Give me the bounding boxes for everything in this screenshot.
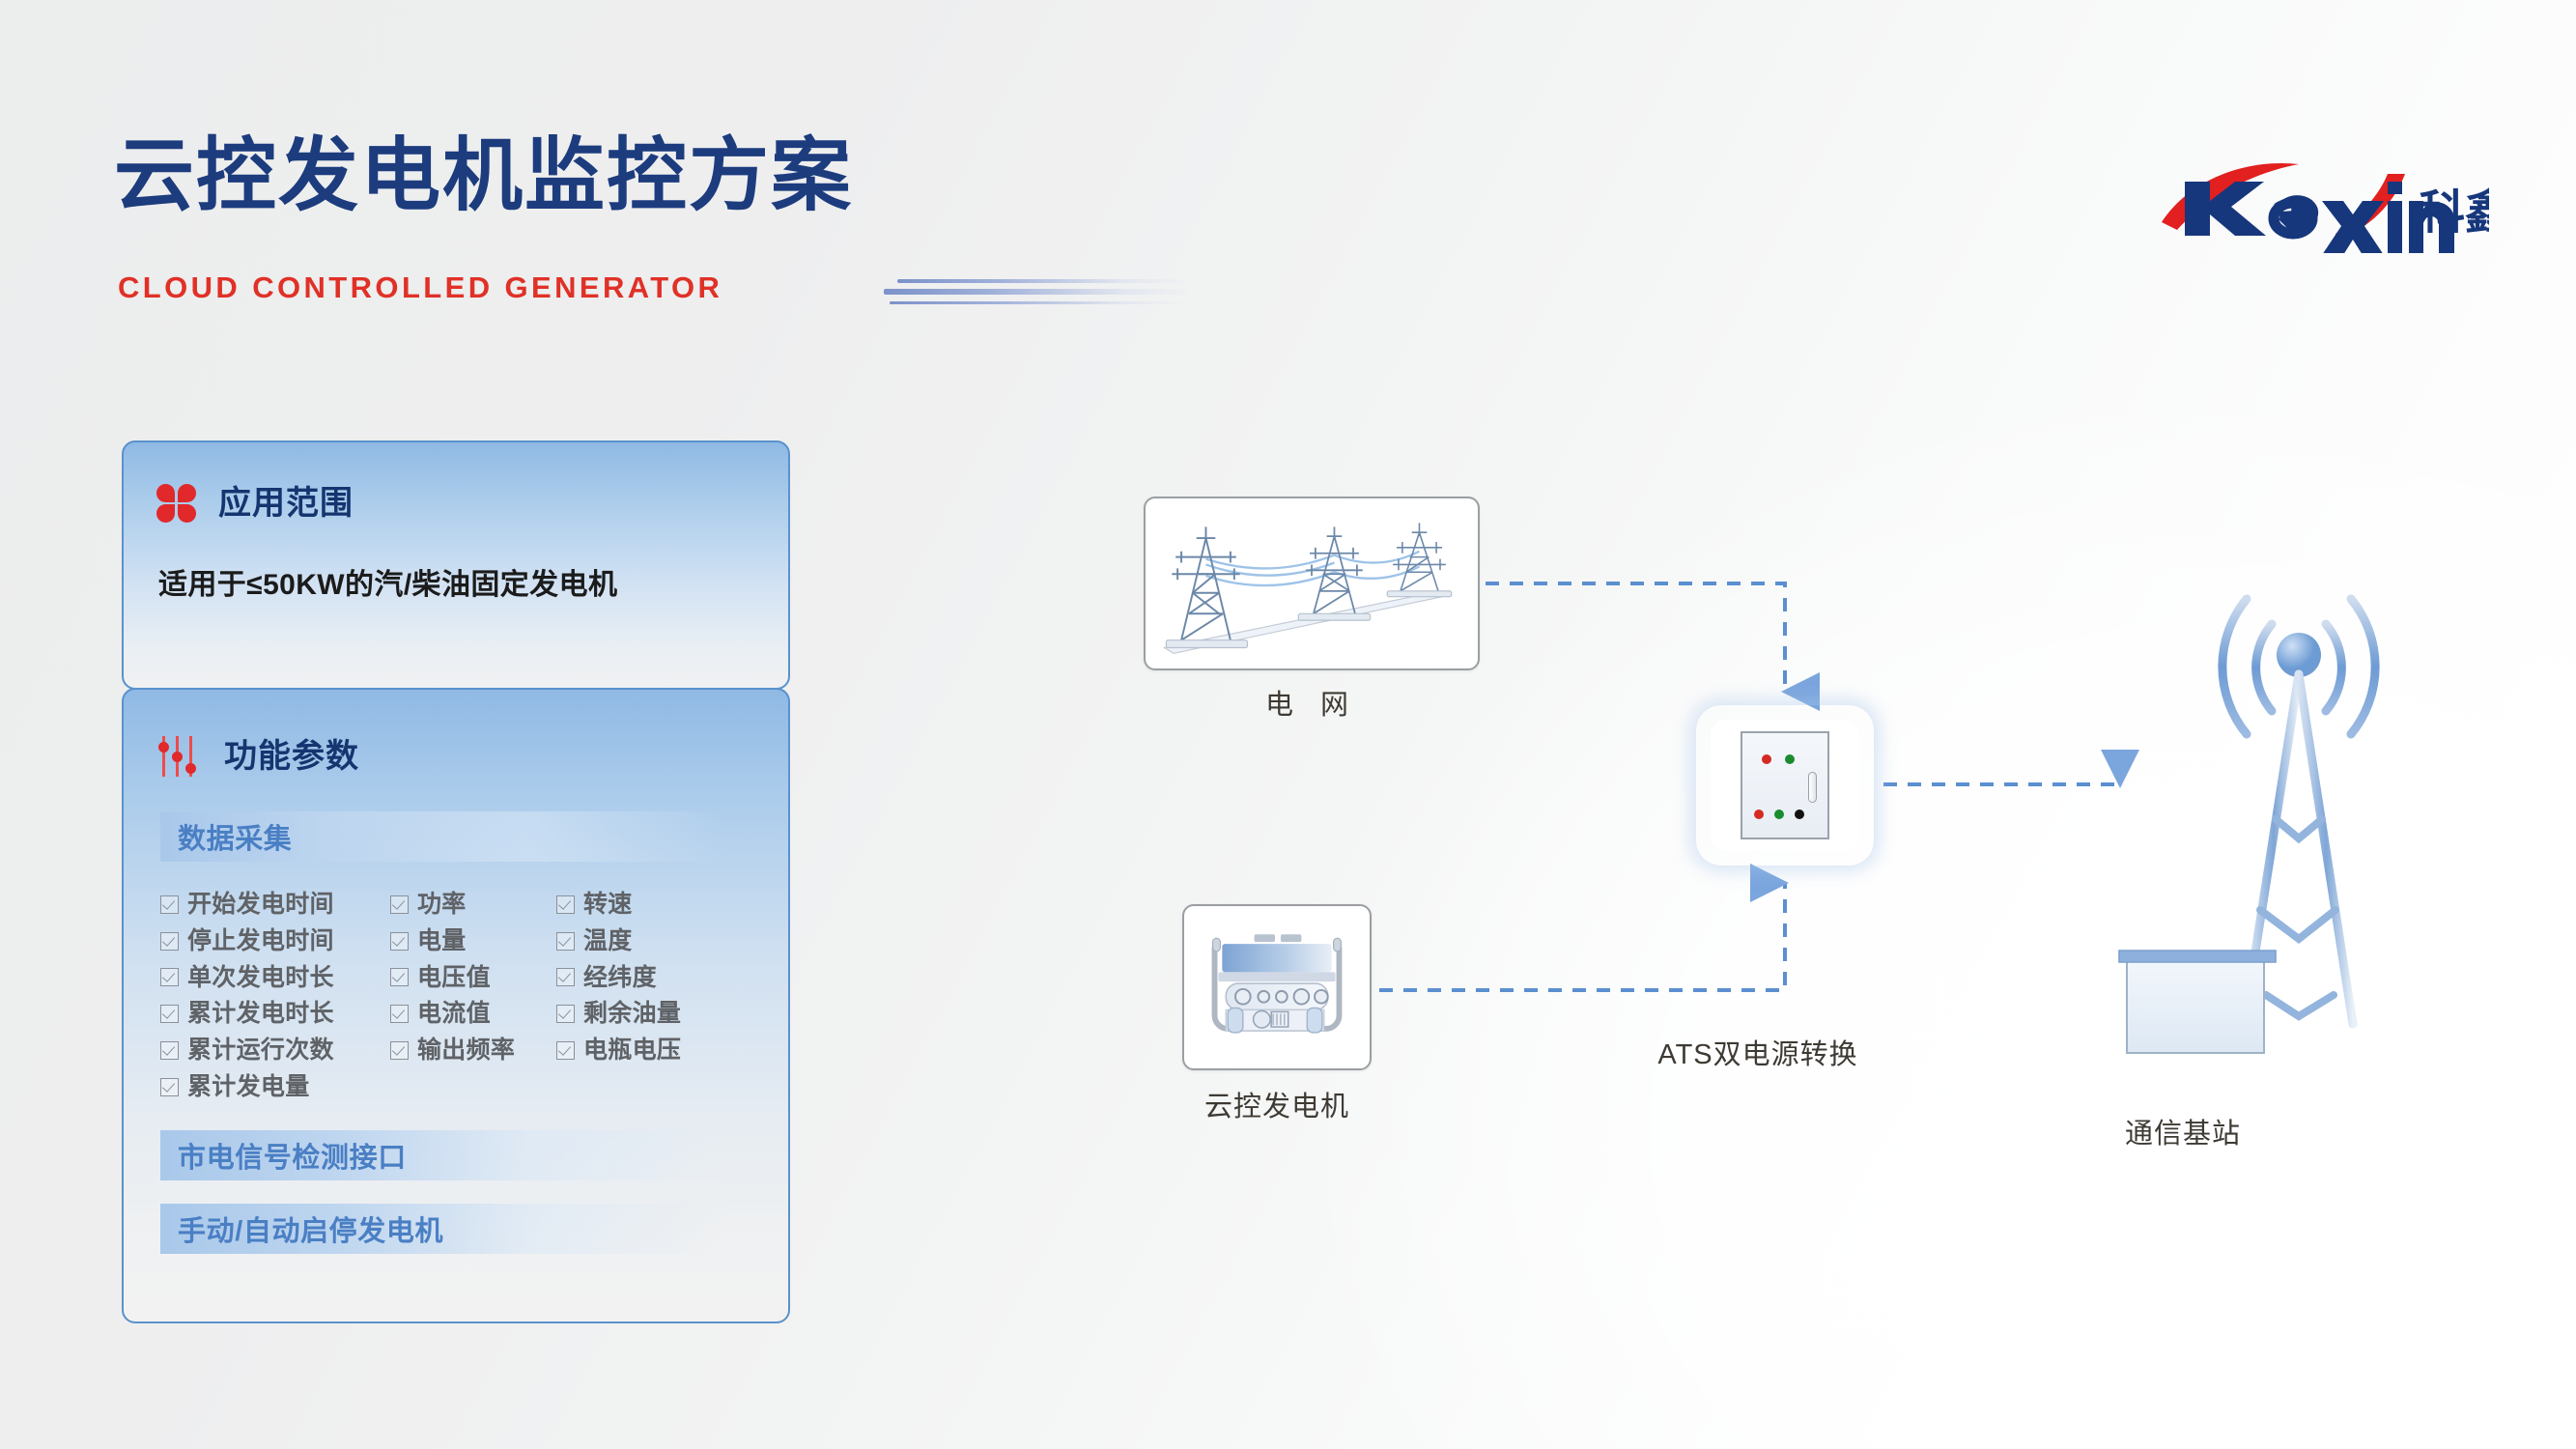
generator-icon bbox=[1184, 906, 1370, 1068]
checkbox-icon[interactable] bbox=[160, 1005, 179, 1023]
checklist-item[interactable]: 转速 bbox=[556, 891, 740, 919]
checklist-item[interactable]: 经纬度 bbox=[556, 964, 740, 992]
card-header: 应用范围 bbox=[124, 442, 788, 524]
checklist-item-label: 温度 bbox=[583, 927, 633, 955]
checklist-item[interactable]: 输出频率 bbox=[390, 1037, 556, 1065]
section-label: 手动/自动启停发电机 bbox=[178, 1208, 443, 1249]
logo-cn-text: 科鑫 bbox=[2419, 185, 2489, 240]
checkbox-icon[interactable] bbox=[160, 895, 179, 914]
led-red-bottom bbox=[1754, 810, 1764, 819]
checklist-item-label: 累计发电量 bbox=[187, 1073, 310, 1101]
checklist-item[interactable]: 电压值 bbox=[390, 964, 556, 992]
checkbox-icon[interactable] bbox=[390, 932, 409, 951]
checklist-item[interactable]: 累计发电量 bbox=[160, 1073, 390, 1101]
checklist-item-label: 输出频率 bbox=[417, 1037, 515, 1065]
checkbox-icon[interactable] bbox=[390, 895, 409, 914]
checklist-item-label: 累计运行次数 bbox=[187, 1037, 334, 1065]
node-label-power-grid: 电 网 bbox=[1144, 682, 1480, 723]
checklist-item-label: 停止发电时间 bbox=[187, 927, 334, 955]
subtitle-decor-lines bbox=[884, 276, 1193, 303]
checkbox-icon[interactable] bbox=[160, 1041, 179, 1060]
led-green-bottom bbox=[1774, 810, 1784, 819]
card-application-scope: 应用范围 适用于≤50KW的汽/柴油固定发电机 bbox=[122, 440, 790, 690]
section-header-mains-detection: 市电信号检测接口 bbox=[160, 1130, 725, 1180]
checklist-item[interactable]: 温度 bbox=[556, 927, 740, 955]
connector-grid-to-ats bbox=[1486, 583, 1785, 692]
brand-logo: 科鑫 bbox=[2156, 153, 2489, 253]
connector-generator-to-ats bbox=[1379, 883, 1785, 990]
checkbox-icon[interactable] bbox=[390, 1041, 409, 1060]
checkbox-icon[interactable] bbox=[556, 968, 575, 986]
checkbox-icon[interactable] bbox=[160, 1078, 179, 1096]
card-header: 功能参数 bbox=[124, 690, 788, 779]
checklist-item[interactable]: 累计运行次数 bbox=[160, 1037, 390, 1065]
led-black-bottom bbox=[1795, 810, 1804, 819]
page-title: 云控发电机监控方案 bbox=[114, 135, 853, 215]
checklist-item[interactable]: 电瓶电压 bbox=[556, 1037, 740, 1065]
section-label: 市电信号检测接口 bbox=[178, 1135, 407, 1176]
section-header-data-collection: 数据采集 bbox=[160, 811, 725, 862]
led-green-top bbox=[1785, 754, 1795, 764]
node-label-cell-tower: 通信基站 bbox=[1990, 1111, 2376, 1151]
checklist-item-label: 经纬度 bbox=[583, 964, 657, 992]
checkbox-icon[interactable] bbox=[390, 1005, 409, 1023]
checklist-item-label: 单次发电时长 bbox=[187, 964, 334, 992]
checklist-item-label: 功率 bbox=[417, 891, 467, 919]
node-label-generator: 云控发电机 bbox=[1111, 1084, 1443, 1124]
checklist-item[interactable]: 累计发电时长 bbox=[160, 1000, 390, 1028]
power-pylons-icon bbox=[1146, 498, 1478, 668]
card-function-parameters: 功能参数 数据采集 开始发电时间 功率 转速 停止发电时间 电量 温度 单次发电… bbox=[122, 688, 790, 1323]
flower-icon bbox=[156, 483, 197, 524]
checklist-item[interactable]: 停止发电时间 bbox=[160, 927, 390, 955]
checklist-item-label: 电流值 bbox=[417, 1000, 491, 1028]
system-diagram: 电 网 bbox=[1101, 473, 2482, 1207]
checkbox-icon[interactable] bbox=[556, 1041, 575, 1060]
checklist-item[interactable]: 电量 bbox=[390, 927, 556, 955]
checklist-item-label: 电压值 bbox=[417, 964, 491, 992]
ats-lever-icon[interactable] bbox=[1808, 772, 1817, 803]
checklist-item[interactable]: 电流值 bbox=[390, 1000, 556, 1028]
ats-inner-body bbox=[1711, 720, 1859, 851]
checklist-item-label: 电瓶电压 bbox=[583, 1037, 681, 1065]
cell-tower-icon bbox=[2106, 541, 2492, 1101]
checkbox-icon[interactable] bbox=[556, 932, 575, 951]
checklist-item[interactable]: 剩余油量 bbox=[556, 1000, 740, 1028]
checklist-item[interactable]: 功率 bbox=[390, 891, 556, 919]
section-header-start-stop: 手动/自动启停发电机 bbox=[160, 1204, 725, 1254]
checklist-item[interactable]: 开始发电时间 bbox=[160, 891, 390, 919]
checkbox-icon[interactable] bbox=[390, 968, 409, 986]
checkbox-icon[interactable] bbox=[556, 1005, 575, 1023]
checklist-item-label: 开始发电时间 bbox=[187, 891, 334, 919]
node-cell-tower bbox=[2106, 541, 2492, 1101]
data-collection-checklist: 开始发电时间 功率 转速 停止发电时间 电量 温度 单次发电时长 电压值 经纬度… bbox=[160, 891, 740, 1101]
led-red-top bbox=[1762, 754, 1771, 764]
checklist-item[interactable]: 单次发电时长 bbox=[160, 964, 390, 992]
checkbox-icon[interactable] bbox=[160, 968, 179, 986]
checklist-item-label: 电量 bbox=[417, 927, 467, 955]
checkbox-icon[interactable] bbox=[160, 932, 179, 951]
checklist-item-label: 剩余油量 bbox=[583, 1000, 681, 1028]
checklist-item-label: 累计发电时长 bbox=[187, 1000, 334, 1028]
section-label: 数据采集 bbox=[178, 816, 292, 857]
page-subtitle: CLOUD CONTROLLED GENERATOR bbox=[118, 272, 722, 302]
node-label-ats: ATS双电源转换 bbox=[1497, 1032, 2019, 1072]
node-ats-switch bbox=[1696, 705, 1874, 866]
node-power-grid bbox=[1144, 497, 1480, 670]
card-title-application-scope: 应用范围 bbox=[218, 487, 354, 520]
ats-switch-icon bbox=[1741, 731, 1829, 839]
card-title-function-parameters: 功能参数 bbox=[224, 740, 359, 773]
checklist-item-label: 转速 bbox=[583, 891, 633, 919]
checkbox-icon[interactable] bbox=[556, 895, 575, 914]
sliders-icon bbox=[156, 734, 199, 779]
node-generator bbox=[1182, 904, 1372, 1070]
application-scope-text: 适用于≤50KW的汽/柴油固定发电机 bbox=[124, 560, 788, 603]
